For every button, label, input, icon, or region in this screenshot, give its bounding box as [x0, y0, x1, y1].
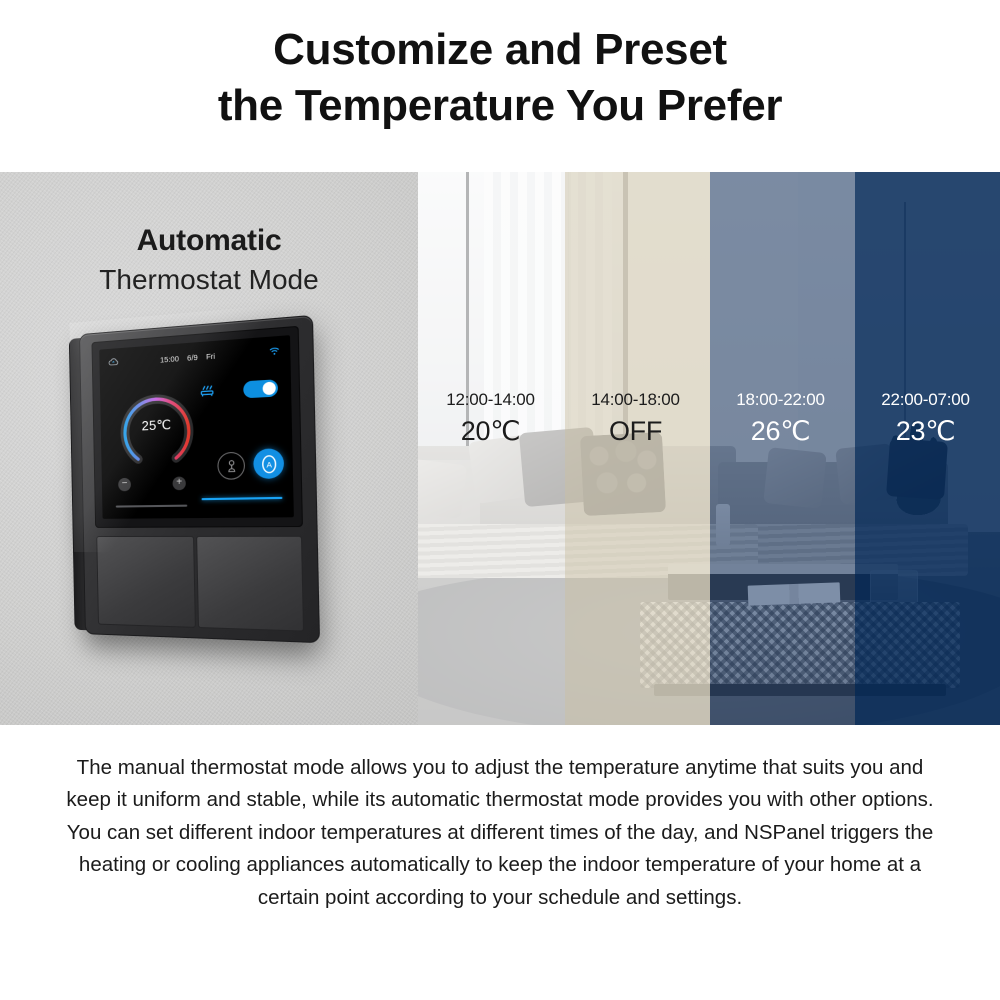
nspanel-device[interactable]: 15:00 6/9 Fri: [79, 315, 320, 643]
schedule-time-4: 22:00-07:00: [853, 390, 998, 410]
toggle-knob: [263, 382, 276, 396]
hero-image: Automatic Thermostat Mode: [0, 172, 1000, 725]
indicator-bar-right: [202, 497, 283, 500]
status-datetime: 15:00 6/9 Fri: [160, 351, 215, 364]
svg-text:A: A: [266, 459, 272, 469]
schedule-value-2: OFF: [563, 416, 708, 447]
schedule-label-3: 18:00-22:00 26℃: [708, 390, 853, 447]
temperature-decrease-button[interactable]: −: [118, 478, 131, 491]
schedule-label-2: 14:00-18:00 OFF: [563, 390, 708, 447]
cloud-icon: [108, 357, 119, 369]
schedule-tint-bands: [418, 172, 1000, 725]
headline-line-2: the Temperature You Prefer: [0, 78, 1000, 134]
schedule-value-3: 26℃: [708, 416, 853, 447]
wifi-icon: [269, 347, 279, 358]
schedule-label-1: 12:00-14:00 20℃: [418, 390, 563, 447]
schedule-time-1: 12:00-14:00: [418, 390, 563, 410]
status-weekday: Fri: [206, 351, 215, 361]
description-text: The manual thermostat mode allows you to…: [60, 752, 940, 914]
schedule-value-4: 23℃: [853, 416, 998, 447]
temperature-dial[interactable]: 25℃: [113, 378, 201, 470]
mode-heading-bold: Automatic: [0, 224, 418, 258]
device-screen[interactable]: 15:00 6/9 Fri: [99, 335, 294, 519]
heating-waves-icon: [199, 383, 215, 404]
schedule-time-3: 18:00-22:00: [708, 390, 853, 410]
indicator-bar-left: [116, 505, 188, 508]
schedule-band-2: [565, 172, 710, 725]
schedule-band-4: [855, 172, 1000, 725]
physical-button-left[interactable]: [96, 536, 196, 628]
dial-temperature-value: 25℃: [114, 415, 200, 435]
auto-mode-icon[interactable]: A: [253, 448, 284, 479]
screen-status-bar: 15:00 6/9 Fri: [99, 342, 290, 372]
power-toggle[interactable]: [243, 379, 278, 398]
living-room-photo: [418, 172, 1000, 725]
mode-heading-regular: Thermostat Mode: [0, 264, 418, 296]
schedule-value-1: 20℃: [418, 416, 563, 447]
product-feature-page: Customize and Preset the Temperature You…: [0, 0, 1000, 1000]
schedule-band-3: [710, 172, 855, 725]
status-time: 15:00: [160, 354, 179, 365]
headline-line-1: Customize and Preset: [273, 25, 727, 74]
schedule-label-4: 22:00-07:00 23℃: [853, 390, 998, 447]
device-screen-frame: 15:00 6/9 Fri: [91, 326, 303, 528]
schedule-band-1: [418, 172, 565, 725]
status-date: 6/9: [187, 353, 198, 363]
temperature-increase-button[interactable]: +: [172, 476, 185, 490]
hand-manual-icon[interactable]: [217, 452, 245, 480]
schedule-time-2: 14:00-18:00: [563, 390, 708, 410]
mode-heading: Automatic Thermostat Mode: [0, 224, 418, 296]
physical-button-right[interactable]: [196, 536, 304, 632]
page-title: Customize and Preset the Temperature You…: [0, 22, 1000, 134]
